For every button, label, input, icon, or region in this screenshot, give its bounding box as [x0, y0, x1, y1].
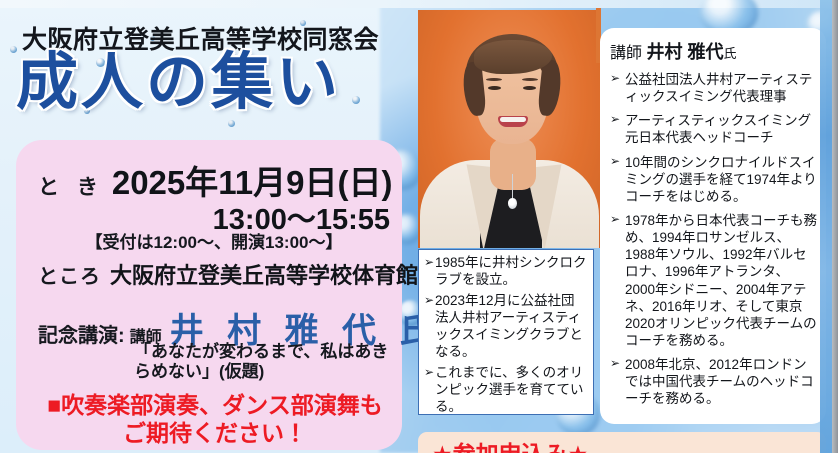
right-edge-strip: [820, 0, 832, 453]
speaker-profile-panel: 講師 井村 雅代氏 ➢ 公益社団法人井村アーティスティックスイミング代表理事 ➢…: [600, 28, 826, 424]
list-item-text: 1978年から日本代表コーチも務め、1994年ロサンゼルス、1988年ソウル、1…: [625, 213, 817, 348]
portrait-eye-left: [488, 86, 501, 90]
portrait-pendant: [508, 198, 517, 209]
performance-note: ■吹奏楽部演奏、ダンス部演舞もご期待ください！: [36, 392, 394, 447]
list-item: ➢ 1985年に井村シンクロクラブを設立。: [424, 255, 588, 288]
list-item: ➢ 10年間のシンクロナイルドスイミングの選手を経て1974年よりコーチをはじめ…: [610, 154, 818, 205]
arrow-bullet-icon: ➢: [610, 112, 620, 127]
arrow-bullet-icon: ➢: [424, 255, 434, 270]
portrait-necklace-chain: [512, 174, 513, 200]
list-item: ➢ これまでに、多くのオリンピック選手を育てている。: [424, 365, 588, 415]
portrait-eyebrow-left: [486, 78, 502, 81]
list-item: ➢ 2008年北京、2012年ロンドンでは中国代表チームのヘッドコーチを務める。: [610, 356, 818, 407]
left-column: 大阪府立登美丘高等学校同窓会 成人の集い と き 2025年11月9日(日) 1…: [0, 0, 415, 453]
list-item: ➢ アーティスティックスイミング元日本代表ヘッドコーチ: [610, 112, 818, 146]
list-item: ➢ 2023年12月に公益社団法人井村アーティスティックスイミングクラブとなる。: [424, 293, 588, 360]
club-history-callout: ➢ 1985年に井村シンクロクラブを設立。 ➢ 2023年12月に公益社団法人井…: [418, 249, 594, 415]
arrow-bullet-icon: ➢: [610, 154, 620, 169]
apply-section-title: ★参加申込み★: [432, 435, 588, 453]
portrait-eyebrow-right: [522, 78, 538, 81]
reception-note: 【受付は12:00〜、開演13:00〜】: [38, 228, 390, 253]
list-item-text: これまでに、多くのオリンピック選手を育てている。: [435, 365, 584, 413]
club-history-list: ➢ 1985年に井村シンクロクラブを設立。 ➢ 2023年12月に公益社団法人井…: [424, 255, 588, 416]
list-item-text: アーティスティックスイミング元日本代表ヘッドコーチ: [625, 113, 811, 145]
lecture-label: 記念講演:: [38, 319, 125, 348]
venue-value: 大阪府立登美丘高等学校体育館: [110, 258, 418, 290]
speaker-portrait: [418, 10, 601, 248]
profile-panel-title: 講師 井村 雅代氏: [610, 38, 818, 64]
venue-row: ところ 大阪府立登美丘高等学校体育館: [38, 258, 398, 290]
portrait-teeth: [500, 117, 526, 122]
list-item: ➢ 1978年から日本代表コーチも務め、1994年ロサンゼルス、1988年ソウル…: [610, 212, 818, 349]
page-title: 成人の集い: [16, 52, 341, 114]
list-item: ➢ 公益社団法人井村アーティスティックスイミング代表理事: [610, 71, 818, 105]
list-item-text: 2023年12月に公益社団法人井村アーティスティックスイミングクラブとなる。: [435, 293, 583, 358]
list-item-text: 10年間のシンクロナイルドスイミングの選手を経て1974年よりコーチをはじめる。: [625, 155, 817, 204]
profile-title-name: 井村 雅代: [646, 42, 723, 62]
list-item-text: 2008年北京、2012年ロンドンでは中国代表チームのヘッドコーチを務める。: [625, 357, 814, 406]
window-edge: [832, 0, 838, 453]
lecture-title: 「あなたが変わるまで、私はあきらめない」(仮題): [134, 342, 396, 382]
event-details-card: と き 2025年11月9日(日) 13:00〜15:55 【受付は12:00〜…: [16, 140, 402, 450]
list-item-text: 1985年に井村シンクロクラブを設立。: [435, 255, 587, 287]
portrait-eye-right: [523, 86, 536, 90]
arrow-bullet-icon: ➢: [610, 212, 620, 227]
arrow-bullet-icon: ➢: [610, 71, 620, 86]
profile-list: ➢ 公益社団法人井村アーティスティックスイミング代表理事 ➢ アーティスティック…: [610, 71, 818, 408]
arrow-bullet-icon: ➢: [610, 356, 620, 371]
profile-title-prefix: 講師: [610, 45, 642, 62]
arrow-bullet-icon: ➢: [424, 365, 434, 380]
list-item-text: 公益社団法人井村アーティスティックスイミング代表理事: [625, 72, 812, 104]
profile-title-suffix: 氏: [723, 46, 736, 61]
apply-section: ★参加申込み★: [418, 432, 826, 453]
venue-label: ところ: [38, 260, 101, 289]
event-poster: 大阪府立登美丘高等学校同窓会 成人の集い と き 2025年11月9日(日) 1…: [0, 0, 838, 453]
portrait-neck: [490, 138, 536, 190]
arrow-bullet-icon: ➢: [424, 293, 434, 308]
